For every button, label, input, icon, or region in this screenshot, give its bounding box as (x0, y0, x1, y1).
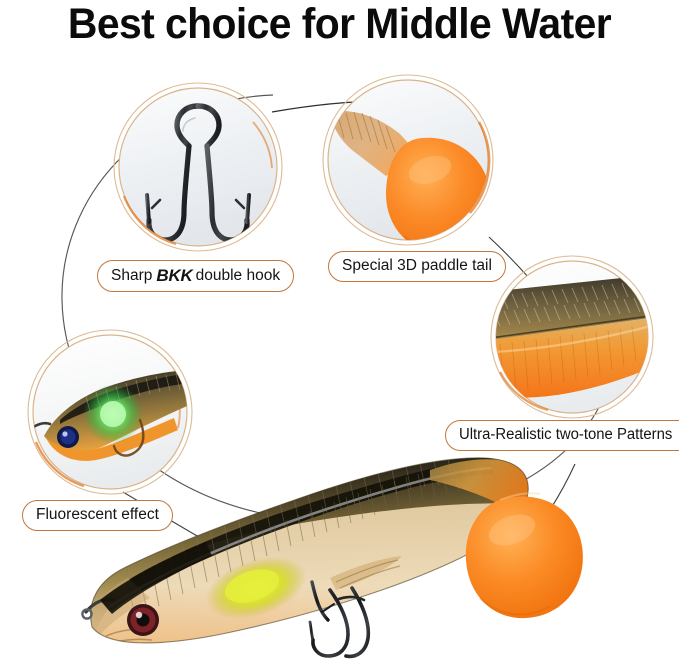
label-hook-suffix: double hook (196, 268, 280, 284)
label-special-3d-paddle-tail[interactable]: Special 3D paddle tail (328, 251, 506, 282)
infographic-artwork (0, 0, 679, 659)
callout-fluorescent[interactable] (28, 330, 192, 494)
connector-pattern-to-product (502, 464, 575, 566)
callout-paddle[interactable] (323, 75, 493, 252)
label-paddle-text: Special 3D paddle tail (342, 258, 492, 274)
label-pattern-text: Ultra-Realistic two-tone Patterns (459, 427, 672, 443)
hook-circle-plate (119, 88, 277, 246)
label-sharp-bkk-double-hook[interactable]: Sharp BKK double hook (97, 260, 294, 292)
label-hook-prefix: Sharp (111, 268, 152, 284)
infographic-canvas: Best choice for Middle Water (0, 0, 679, 659)
label-hook-brand: BKK (152, 267, 195, 284)
label-ultra-realistic-two-tone-patterns[interactable]: Ultra-Realistic two-tone Patterns (445, 420, 679, 451)
label-fluor-text: Fluorescent effect (36, 507, 159, 523)
label-fluorescent-effect[interactable]: Fluorescent effect (22, 500, 173, 531)
callout-pattern[interactable] (488, 256, 668, 418)
callout-hook[interactable] (114, 83, 282, 251)
